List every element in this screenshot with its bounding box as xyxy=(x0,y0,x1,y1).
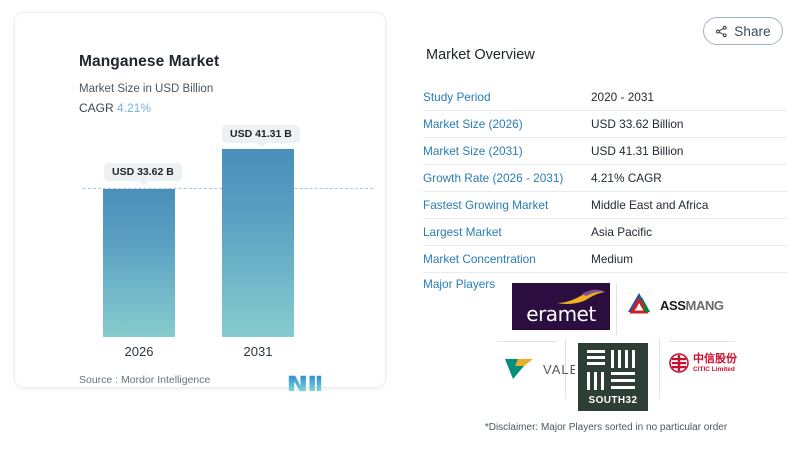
row-key: Market Concentration xyxy=(423,252,591,266)
eramet-logo[interactable]: eramet xyxy=(512,283,610,330)
table-row: Study Period 2020 - 2031 xyxy=(423,84,787,111)
eramet-wordmark: eramet xyxy=(526,304,595,324)
assmang-word-light: MANG xyxy=(686,298,724,313)
assmang-wordmark: ASSMANG xyxy=(660,298,724,313)
overview-title: Market Overview xyxy=(426,47,535,63)
bar-2026[interactable] xyxy=(103,189,175,337)
share-button[interactable]: Share xyxy=(703,17,783,45)
row-value: Middle East and Africa xyxy=(591,198,708,212)
disclaimer-text: *Disclaimer: Major Players sorted in no … xyxy=(425,422,787,433)
table-row: Fastest Growing Market Middle East and A… xyxy=(423,192,787,219)
share-nodes-icon xyxy=(715,25,728,38)
row-value: 2020 - 2031 xyxy=(591,90,654,104)
bar-2031[interactable] xyxy=(222,149,294,337)
market-summary-page: Share Manganese Market Market Size in US… xyxy=(0,0,800,459)
citic-wordmark: 中信股份 CITIC Limited xyxy=(693,353,737,373)
row-value: USD 33.62 Billion xyxy=(591,117,683,131)
chart-source: Source : Mordor Intelligence xyxy=(79,374,210,386)
x-axis-tick-2031: 2031 xyxy=(222,344,294,359)
major-players-logos: eramet ASSMANG VALE xyxy=(487,283,745,409)
citic-mark-icon xyxy=(669,353,689,373)
logo-divider xyxy=(659,339,660,399)
table-row: Growth Rate (2026 - 2031) 4.21% CAGR xyxy=(423,165,787,192)
vale-mark-icon xyxy=(503,356,537,382)
table-row: Market Size (2031) USD 41.31 Billion xyxy=(423,138,787,165)
row-key: Largest Market xyxy=(423,225,591,239)
row-value: Medium xyxy=(591,252,633,266)
row-key: Study Period xyxy=(423,90,591,104)
row-value: 4.21% CAGR xyxy=(591,171,662,185)
eramet-swoosh-icon xyxy=(556,289,606,305)
chart-card: Manganese Market Market Size in USD Bill… xyxy=(14,12,386,388)
row-key: Growth Rate (2026 - 2031) xyxy=(423,171,591,185)
assmang-triangle-icon xyxy=(625,291,653,319)
citic-limited-logo[interactable]: 中信股份 CITIC Limited xyxy=(669,353,737,373)
x-axis-tick-2026: 2026 xyxy=(103,344,175,359)
row-key: Market Size (2031) xyxy=(423,144,591,158)
overview-table: Study Period 2020 - 2031 Market Size (20… xyxy=(423,84,787,303)
logo-divider xyxy=(497,341,557,342)
south32-wordmark: SOUTH32 xyxy=(589,395,638,406)
logo-divider xyxy=(669,341,735,342)
vale-wordmark: VALE xyxy=(543,362,579,377)
south32-mark-icon xyxy=(585,348,641,392)
share-button-label: Share xyxy=(734,24,771,39)
citic-chinese-name: 中信股份 xyxy=(693,353,737,366)
citic-english-name: CITIC Limited xyxy=(693,366,737,373)
row-key: Fastest Growing Market xyxy=(423,198,591,212)
assmang-word-bold: ASS xyxy=(660,298,686,313)
bar-label-2031: USD 41.31 B xyxy=(222,125,300,143)
row-key: Market Size (2026) xyxy=(423,117,591,131)
table-row: Market Size (2026) USD 33.62 Billion xyxy=(423,111,787,138)
logo-divider xyxy=(616,283,617,335)
vale-logo[interactable]: VALE xyxy=(503,356,579,382)
south32-logo[interactable]: SOUTH32 xyxy=(575,340,651,414)
table-row: Largest Market Asia Pacific xyxy=(423,219,787,246)
bar-chart-plot: USD 33.62 B USD 41.31 B 2026 2031 xyxy=(15,13,387,389)
row-value: Asia Pacific xyxy=(591,225,652,239)
assmang-logo[interactable]: ASSMANG xyxy=(625,291,724,319)
mordor-intelligence-logo-icon xyxy=(287,373,323,393)
table-row: Market Concentration Medium xyxy=(423,246,787,273)
bar-label-2026: USD 33.62 B xyxy=(104,163,182,181)
row-value: USD 41.31 Billion xyxy=(591,144,683,158)
